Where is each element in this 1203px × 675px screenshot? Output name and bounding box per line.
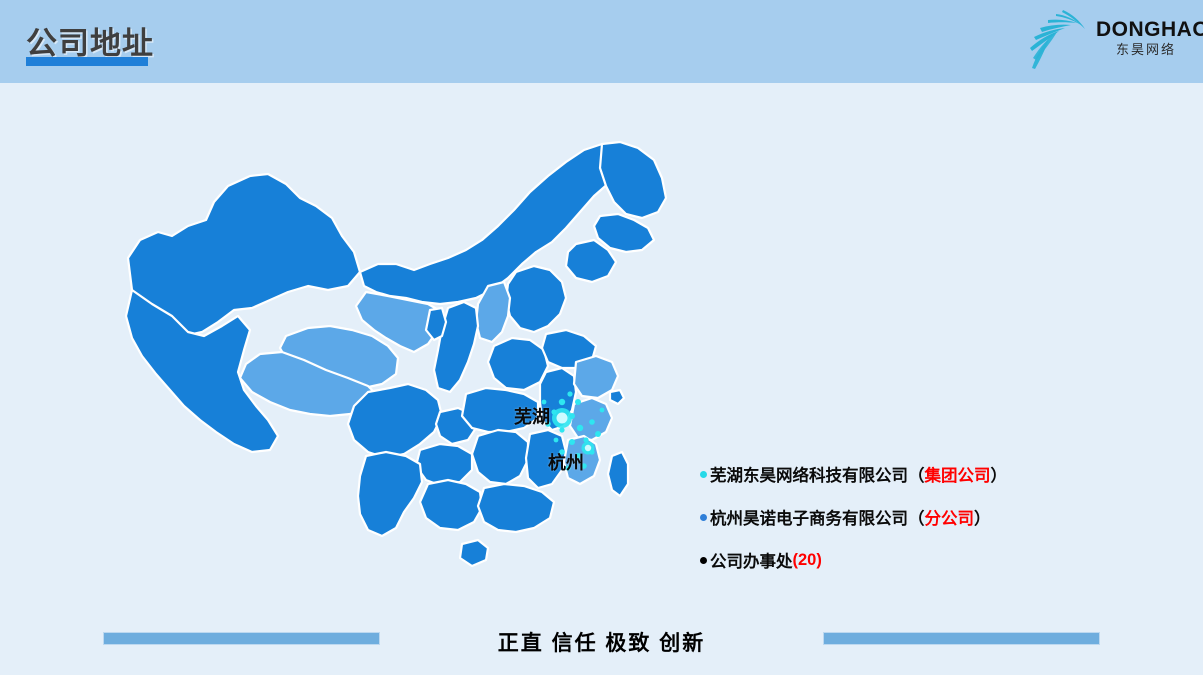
- company-logo: DONGHAO 东昊网络: [1018, 4, 1193, 76]
- legend-suffix-branch: ）: [974, 505, 991, 529]
- marker-wuhu: [552, 408, 572, 428]
- legend-suffix-group: ）: [991, 462, 1008, 486]
- legend-bullet-black: [700, 557, 707, 564]
- logo-name: DONGHAO: [1096, 18, 1196, 41]
- legend-tag-group: 集团公司: [925, 462, 991, 486]
- legend-bullet-cyan: [700, 471, 707, 478]
- province-shanghai: [610, 390, 624, 404]
- province-henan: [488, 338, 548, 390]
- province-taiwan: [608, 452, 628, 496]
- legend-item-group-company: 芜湖东昊网络科技有限公司（集团公司）: [700, 462, 1100, 486]
- city-label-wuhu: 芜湖: [514, 403, 550, 429]
- legend-tag-office-count: (20): [793, 551, 822, 570]
- footer-bar-right: [823, 632, 1100, 645]
- legend-item-offices: 公司办事处(20): [700, 548, 1100, 572]
- page-header: 公司地址 DONGHAO 东昊网络: [0, 0, 1203, 83]
- title-underline: [26, 57, 148, 66]
- province-hainan: [460, 540, 488, 566]
- province-hebei: [506, 266, 566, 332]
- logo-text-block: DONGHAO 东昊网络: [1096, 18, 1196, 59]
- china-map-svg: [110, 140, 690, 610]
- province-hunan: [472, 430, 528, 484]
- donghao-feather-icon: [1018, 6, 1096, 74]
- legend: 芜湖东昊网络科技有限公司（集团公司） 杭州昊诺电子商务有限公司（分公司） 公司办…: [700, 462, 1100, 572]
- province-yunnan: [358, 452, 422, 536]
- legend-label-offices: 公司办事处: [710, 548, 793, 572]
- province-heilongjiang: [600, 142, 666, 218]
- legend-bullet-blue: [700, 514, 707, 521]
- legend-item-branch-company: 杭州昊诺电子商务有限公司（分公司）: [700, 505, 1100, 529]
- province-guangdong: [478, 484, 554, 532]
- logo-subname: 东昊网络: [1096, 41, 1196, 59]
- legend-tag-branch: 分公司: [925, 505, 975, 529]
- legend-label-branch-company: 杭州昊诺电子商务有限公司（: [710, 505, 925, 529]
- legend-label-group-company: 芜湖东昊网络科技有限公司（: [710, 462, 925, 486]
- city-label-hangzhou: 杭州: [548, 449, 584, 475]
- china-map: 芜湖 杭州: [110, 140, 690, 610]
- province-guangxi: [420, 480, 482, 530]
- province-ningxia: [426, 308, 446, 340]
